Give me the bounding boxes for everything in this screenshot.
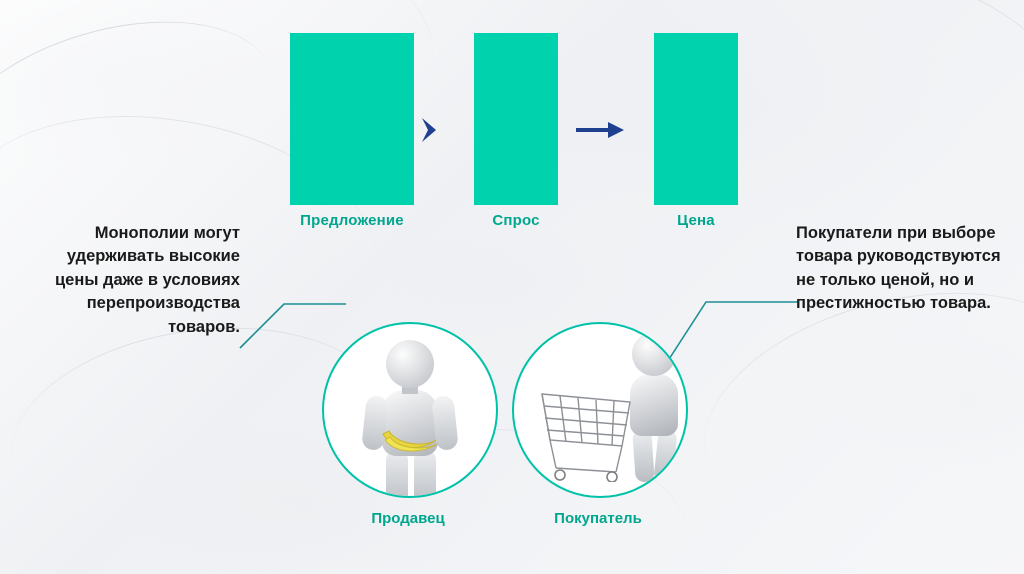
figure-label-seller: Продавец — [318, 510, 498, 527]
bananas-icon — [380, 428, 440, 454]
bar-label-price: Цена — [636, 212, 756, 229]
seller-leg-right — [414, 450, 436, 498]
bar-supply — [290, 33, 414, 205]
connector-line-left — [238, 270, 348, 350]
note-right: Покупатели при выборе товара руководству… — [796, 222, 1014, 316]
bar-label-supply: Предложение — [264, 212, 440, 229]
figure-seller-photo — [322, 322, 498, 498]
figure-buyer-photo — [512, 322, 688, 498]
connector-line-right — [660, 272, 800, 372]
marble-vein — [0, 0, 298, 254]
arrow-right-icon — [574, 118, 626, 142]
note-left: Монополии могут удерживать высокие цены … — [22, 222, 240, 339]
slide-canvas: Предложение Спрос Цена — [0, 0, 1024, 574]
buyer-leg-right — [653, 429, 677, 483]
bar-demand — [474, 33, 558, 205]
seller-head — [386, 340, 434, 388]
shopping-cart-icon — [534, 376, 638, 482]
chevron-right-icon — [412, 112, 448, 148]
bar-price — [654, 33, 738, 205]
figure-label-buyer: Покупатель — [508, 510, 688, 527]
buyer-head — [632, 332, 676, 376]
bar-label-demand: Спрос — [456, 212, 576, 229]
seller-leg-left — [386, 450, 408, 498]
